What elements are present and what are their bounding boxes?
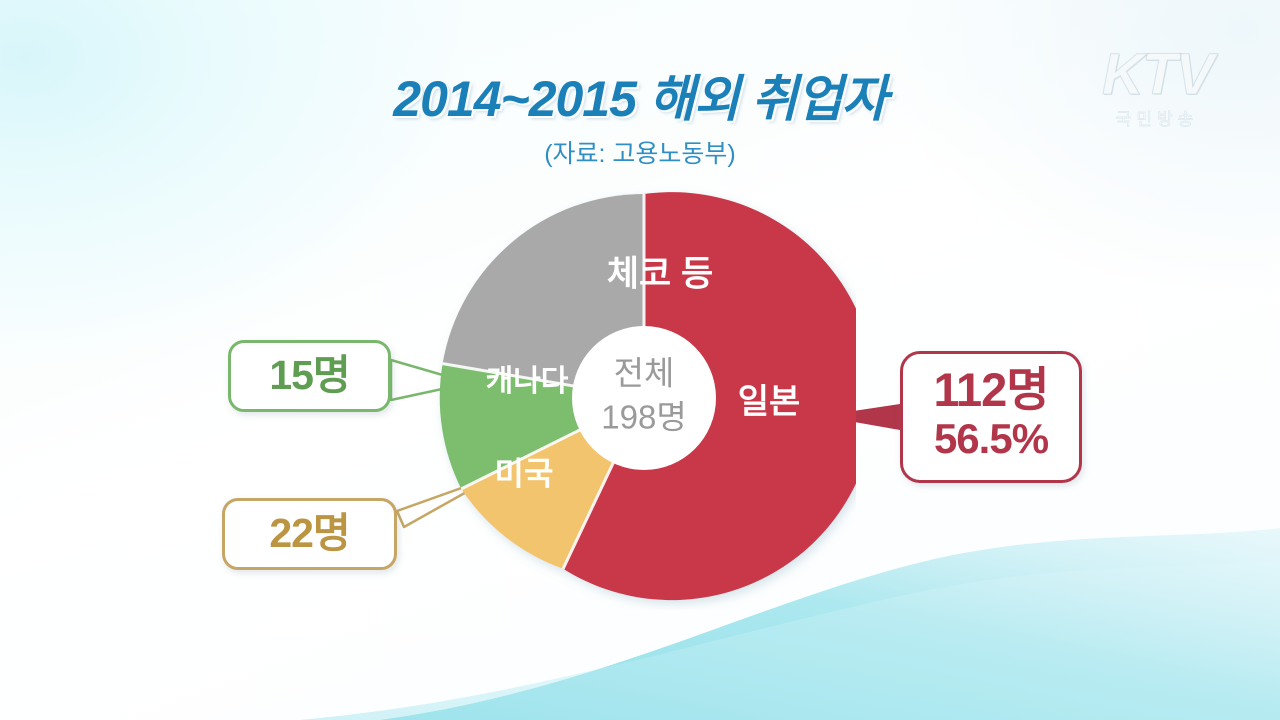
broadcast-graphic-stage: KTV 국민방송 2014~2015 해외 취업자 (자료: 고용노동부): [0, 0, 1280, 720]
donut-center-total: 198명: [601, 399, 686, 436]
callout-japan-percent: 56.5%: [903, 418, 1079, 461]
callout-japan: 112명 56.5%: [900, 351, 1082, 483]
callout-canada: 15명: [228, 340, 391, 412]
callout-canada-count: 15명: [231, 355, 388, 397]
callout-japan-count: 112명: [903, 366, 1079, 414]
callout-usa: 22명: [222, 498, 397, 570]
pie-label-others: 체코 등: [607, 254, 713, 293]
donut-chart: 체코 등 캐나다 미국 일본 전체 198명: [432, 186, 856, 610]
pie-label-japan: 일본: [738, 383, 801, 421]
callout-usa-count: 22명: [225, 513, 394, 555]
donut-center-label: 전체: [614, 355, 675, 392]
page-title: 2014~2015 해외 취업자: [0, 74, 1280, 124]
title-block: 2014~2015 해외 취업자 (자료: 고용노동부): [0, 74, 1280, 170]
chart-source-subtitle: (자료: 고용노동부): [0, 134, 1280, 170]
pie-label-canada: 캐나다: [486, 365, 569, 398]
pie-label-usa: 미국: [495, 455, 554, 491]
